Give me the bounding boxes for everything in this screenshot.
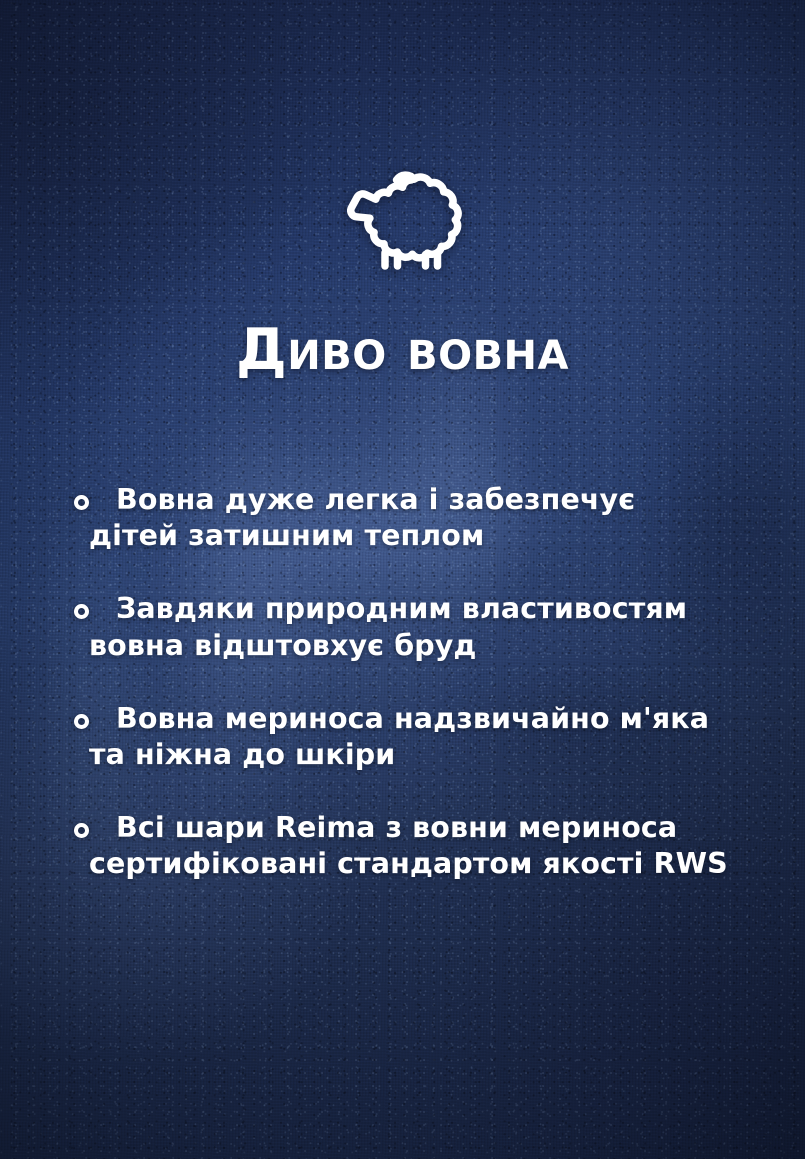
list-item-line: Вовна дуже легка і забезпечує bbox=[116, 482, 635, 518]
list-item: Вовна дуже легка і забезпечує дітей зати… bbox=[74, 482, 765, 554]
bullet-ring-icon bbox=[74, 604, 89, 619]
list-item-line: Всі шари Reima з вовни мериноса bbox=[116, 810, 728, 846]
bullet-ring-icon bbox=[74, 823, 89, 838]
list-item-text: Всі шари Reima з вовни мериноса сертифік… bbox=[116, 810, 728, 882]
list-item-line: та ніжна до шкіри bbox=[89, 737, 709, 773]
list-item-text: Вовна дуже легка і забезпечує дітей зати… bbox=[116, 482, 635, 554]
bullet-ring-icon bbox=[74, 714, 89, 729]
benefits-list: Вовна дуже легка і забезпечує дітей зати… bbox=[74, 482, 765, 883]
sheep-icon-container bbox=[0, 166, 805, 270]
wool-infographic-poster: Диво вовна Вовна дуже легка і забезпечує… bbox=[0, 0, 805, 1159]
list-item: Завдяки природним властивостям вовна від… bbox=[74, 591, 765, 663]
bullet-ring-icon bbox=[74, 495, 89, 510]
list-item-line: сертифіковані стандартом якості RWS bbox=[89, 846, 728, 882]
sheep-icon bbox=[333, 166, 473, 270]
list-item: Вовна мериноса надзвичайно м'яка та ніжн… bbox=[74, 701, 765, 773]
list-item-text: Завдяки природним властивостям вовна від… bbox=[116, 591, 687, 663]
page-title: Диво вовна bbox=[0, 322, 805, 379]
list-item: Всі шари Reima з вовни мериноса сертифік… bbox=[74, 810, 765, 882]
list-item-line: дітей затишним теплом bbox=[89, 518, 635, 554]
list-item-line: Завдяки природним властивостям bbox=[116, 591, 687, 627]
poster-content: Диво вовна Вовна дуже легка і забезпечує… bbox=[0, 0, 805, 1159]
list-item-line: Вовна мериноса надзвичайно м'яка bbox=[116, 701, 709, 737]
list-item-text: Вовна мериноса надзвичайно м'яка та ніжн… bbox=[116, 701, 709, 773]
list-item-line: вовна відштовхує бруд bbox=[89, 628, 687, 664]
